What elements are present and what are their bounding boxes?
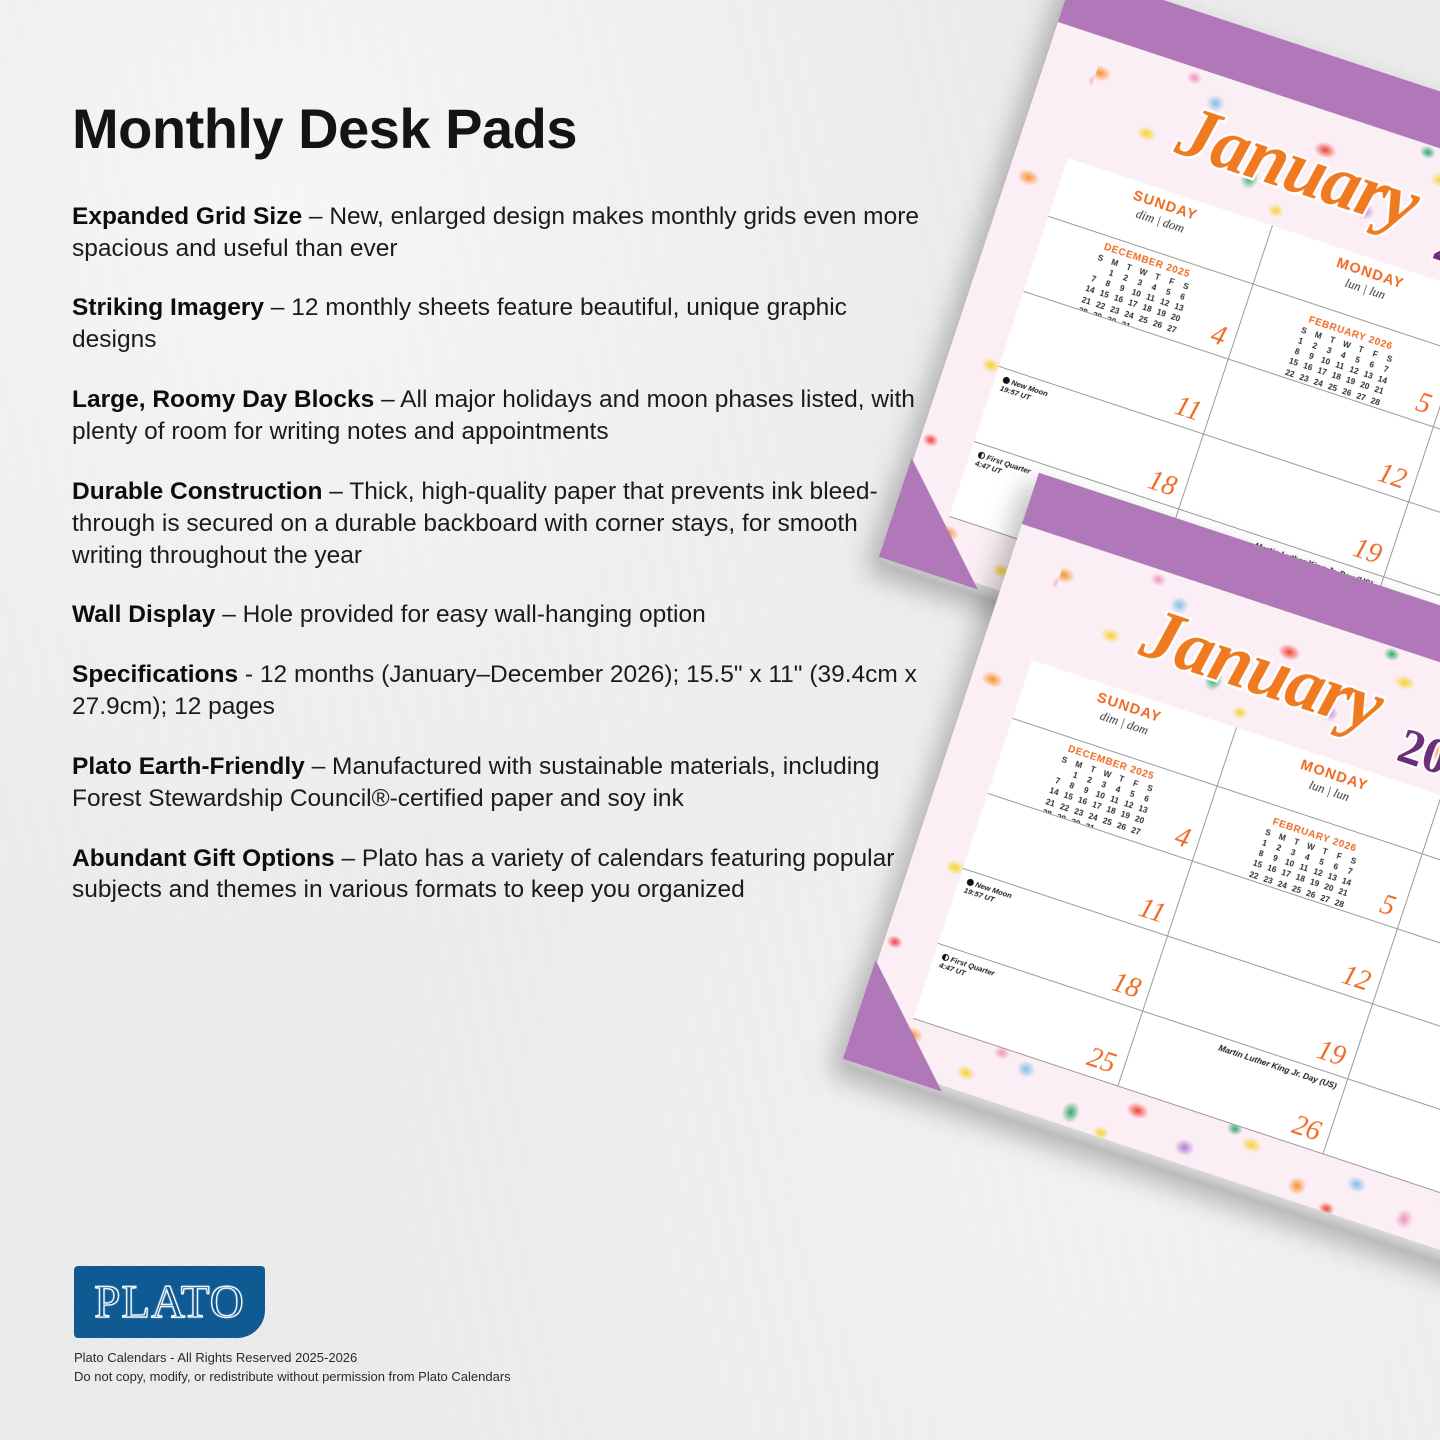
day-number: 12	[1338, 961, 1373, 996]
day-number: 4	[1171, 823, 1193, 854]
feature-lead: Specifications	[72, 661, 238, 688]
feature-lead: Wall Display	[72, 601, 215, 628]
feature-plato-earth-friendly: Plato Earth-Friendly – Manufactured with…	[72, 751, 932, 815]
day-number: 5	[1412, 389, 1434, 420]
feature-large-roomy-day-blocks: Large, Roomy Day Blocks – All major holi…	[72, 384, 932, 448]
feature-lead: Durable Construction	[72, 478, 322, 505]
feature-specifications: Specifications - 12 months (January–Dece…	[72, 659, 932, 723]
day-number: 26	[1289, 1111, 1324, 1146]
day-number: 19	[1350, 534, 1385, 569]
day-number: 19	[1314, 1036, 1349, 1071]
feature-lead: Expanded Grid Size	[72, 203, 302, 230]
day-number: 4	[1207, 321, 1229, 352]
plato-logo: PLATO	[74, 1266, 265, 1338]
marketing-copy-column: Monthly Desk Pads Expanded Grid Size – N…	[72, 100, 952, 934]
plato-logo-text: PLATO	[94, 1279, 244, 1326]
legal-line-1: Plato Calendars - All Rights Reserved 20…	[74, 1348, 511, 1367]
brand-footer: PLATO Plato Calendars - All Rights Reser…	[74, 1266, 511, 1386]
day-number: 25	[1084, 1043, 1119, 1078]
feature-lead: Striking Imagery	[72, 294, 264, 321]
day-number: 5	[1376, 891, 1398, 922]
day-number: 18	[1144, 466, 1179, 501]
feature-lead: Plato Earth-Friendly	[72, 753, 305, 780]
feature-lead: Abundant Gift Options	[72, 845, 335, 872]
day-number: 18	[1108, 968, 1143, 1003]
feature-abundant-gift-options: Abundant Gift Options – Plato has a vari…	[72, 843, 932, 907]
feature-durable-construction: Durable Construction – Thick, high-quali…	[72, 476, 932, 572]
feature-lead: Large, Roomy Day Blocks	[72, 386, 374, 413]
day-number: 12	[1374, 459, 1409, 494]
feature-striking-imagery: Striking Imagery – 12 monthly sheets fea…	[72, 292, 932, 356]
legal-notice: Plato Calendars - All Rights Reserved 20…	[74, 1348, 511, 1386]
feature-body: – Hole provided for easy wall-hanging op…	[215, 601, 705, 628]
legal-line-2: Do not copy, modify, or redistribute wit…	[74, 1367, 511, 1386]
feature-wall-display: Wall Display – Hole provided for easy wa…	[72, 599, 932, 631]
day-number: 11	[1171, 392, 1204, 427]
feature-list: Expanded Grid Size – New, enlarged desig…	[72, 201, 952, 907]
feature-expanded-grid-size: Expanded Grid Size – New, enlarged desig…	[72, 201, 932, 265]
page-title: Monthly Desk Pads	[72, 100, 952, 159]
day-number: 11	[1135, 894, 1168, 929]
poster-canvas: January January 2026 2026 janvier • ener…	[0, 0, 1440, 1440]
